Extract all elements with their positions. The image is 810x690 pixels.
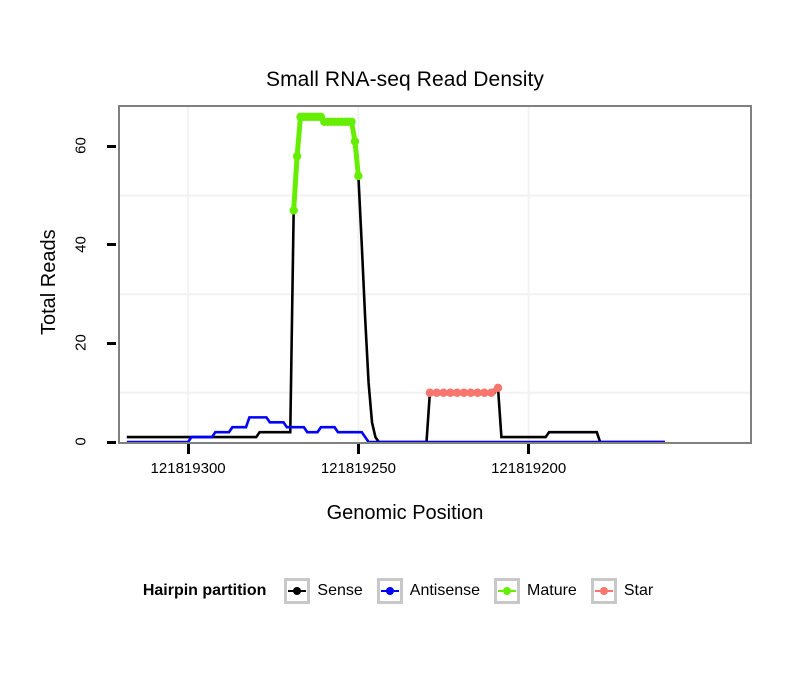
data-point-mature	[354, 172, 362, 180]
y-tick-mark	[107, 145, 116, 148]
legend-key-dot	[503, 587, 511, 595]
data-point-mature	[347, 118, 355, 126]
legend-item-mature[interactable]: Mature	[494, 578, 577, 604]
legend-label: Sense	[317, 582, 362, 600]
y-tick-label: 0	[73, 422, 90, 462]
legend-key-dot	[600, 587, 608, 595]
y-tick-mark	[107, 243, 116, 246]
chart-canvas: Small RNA-seq Read Density Total Reads 0…	[0, 0, 810, 690]
y-tick-label: 60	[73, 126, 90, 166]
legend-key-sense	[284, 578, 310, 604]
data-point-star	[487, 389, 495, 397]
legend-label: Mature	[527, 582, 577, 600]
x-tick-label: 121819300	[108, 460, 268, 477]
legend: Hairpin partition SenseAntisenseMatureSt…	[0, 578, 810, 604]
legend-item-star[interactable]: Star	[591, 578, 653, 604]
legend-items: SenseAntisenseMatureStar	[284, 578, 667, 604]
chart-title: Small RNA-seq Read Density	[0, 68, 810, 92]
legend-label: Star	[624, 582, 653, 600]
legend-key-star	[591, 578, 617, 604]
data-point-mature	[289, 206, 297, 214]
y-tick-mark	[107, 342, 116, 345]
plot-panel	[118, 105, 752, 444]
data-point-star	[494, 384, 502, 392]
series-line-antisense	[127, 417, 665, 442]
x-tick-mark	[357, 444, 360, 454]
legend-label: Antisense	[410, 582, 480, 600]
legend-item-sense[interactable]: Sense	[284, 578, 362, 604]
legend-item-antisense[interactable]: Antisense	[377, 578, 480, 604]
data-point-mature	[351, 137, 359, 145]
x-tick-mark	[527, 444, 530, 454]
y-tick-mark	[107, 441, 116, 444]
legend-title: Hairpin partition	[143, 582, 267, 600]
legend-key-mature	[494, 578, 520, 604]
x-tick-label: 121819200	[449, 460, 609, 477]
legend-key-antisense	[377, 578, 403, 604]
x-tick-label: 121819250	[278, 460, 438, 477]
data-point-mature	[293, 152, 301, 160]
legend-key-dot	[293, 587, 301, 595]
x-axis-label: Genomic Position	[0, 502, 810, 525]
y-axis-label: Total Reads	[38, 229, 61, 335]
legend-key-dot	[386, 587, 394, 595]
y-tick-label: 20	[73, 323, 90, 363]
y-tick-label: 40	[73, 224, 90, 264]
x-tick-mark	[187, 444, 190, 454]
plot-series-svg	[120, 107, 750, 442]
